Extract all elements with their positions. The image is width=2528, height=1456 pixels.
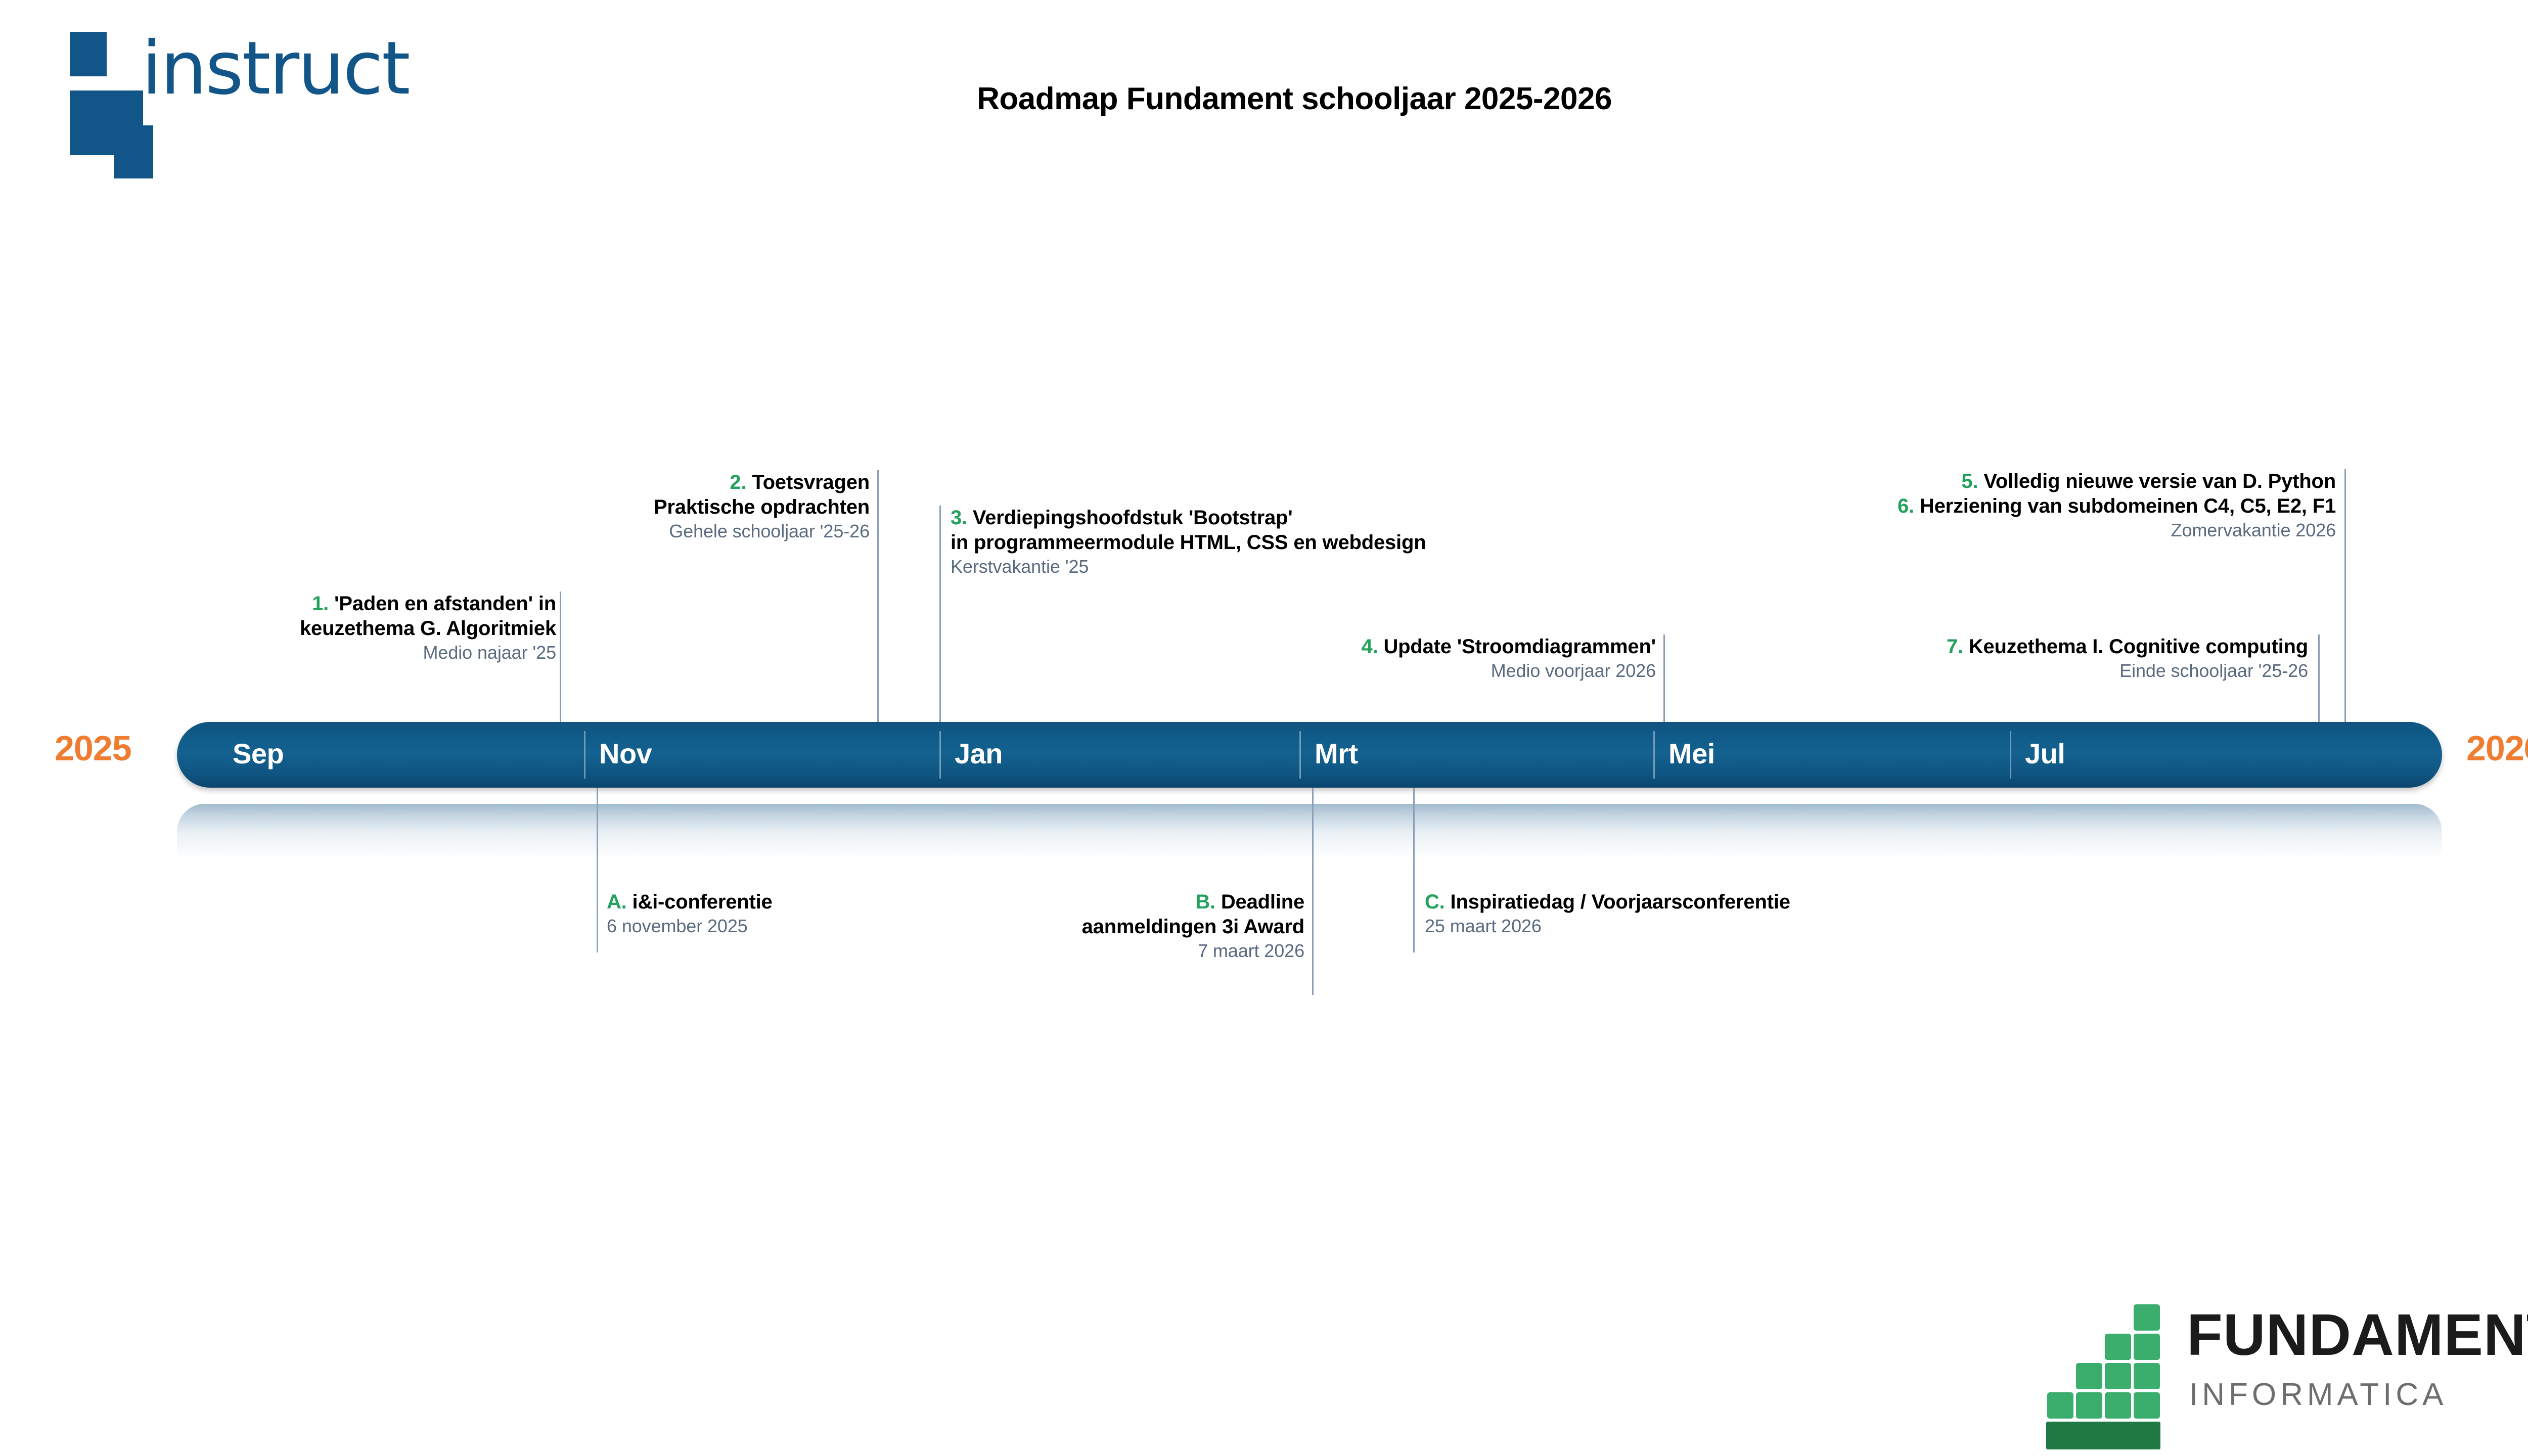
brick-r4-c0 — [2047, 1392, 2073, 1419]
brick-r2-c3 — [2134, 1334, 2160, 1360]
milestone-2-line-1: 2. Toetsvragen — [420, 470, 870, 495]
timeline-bar-wrapper: Sep Nov Jan Mrt Mei Jul — [0, 722, 2528, 788]
fundament-logo-bricks — [2063, 1304, 2174, 1433]
logo-square-bottom — [114, 125, 153, 178]
brick-r2-c2 — [2105, 1334, 2131, 1360]
connector-line-milestone-7 — [2318, 634, 2320, 722]
month-tick-nov — [584, 731, 585, 779]
milestone-1-date: Medio najaar '25 — [101, 641, 556, 665]
connector-line-milestone-2 — [877, 470, 879, 722]
timeline-bar[interactable]: Sep Nov Jan Mrt Mei Jul — [177, 722, 2442, 788]
month-tick-mrt — [1299, 731, 1301, 779]
connector-line-milestone-b — [1312, 788, 1314, 995]
fundament-wordmark: FUNDAMENT — [2187, 1305, 2528, 1364]
connector-line-milestone-1 — [560, 591, 561, 722]
month-tick-jul — [2010, 731, 2011, 779]
fundament-subtitle: INFORMATICA — [2189, 1379, 2448, 1410]
month-tick-jan — [939, 731, 941, 779]
connector-line-milestone-56 — [2344, 469, 2346, 722]
milestone-1-marker: 1. — [312, 593, 329, 615]
milestone-5-line: 5. Volledig nieuwe versie van D. Python — [1567, 469, 2336, 494]
milestone-7-line-1: 7. Keuzethema I. Cognitive computing — [1709, 634, 2308, 659]
connector-line-milestone-3 — [939, 506, 941, 722]
milestone-7: 7. Keuzethema I. Cognitive computing Ein… — [1709, 634, 2308, 683]
milestone-2-marker: 2. — [730, 471, 746, 493]
milestone-c: C. Inspiratiedag / Voorjaarsconferentie … — [1425, 890, 2032, 938]
milestone-c-line-1: C. Inspiratiedag / Voorjaarsconferentie — [1425, 890, 2032, 915]
milestone-5-marker: 5. — [1961, 470, 1978, 492]
milestone-7-date: Einde schooljaar '25-26 — [1709, 659, 2308, 683]
milestone-6-marker: 6. — [1898, 495, 1914, 517]
milestone-1: 1. 'Paden en afstanden' in keuzethema G.… — [101, 591, 556, 665]
milestone-c-date: 25 maart 2026 — [1425, 915, 2032, 938]
milestone-2: 2. Toetsvragen Praktische opdrachten Geh… — [420, 470, 870, 543]
connector-line-milestone-a — [597, 788, 598, 952]
milestone-2-line-2: Praktische opdrachten — [420, 495, 870, 520]
milestone-3-marker: 3. — [951, 507, 967, 529]
month-label-jan: Jan — [955, 737, 1003, 770]
month-tick-mei — [1653, 731, 1655, 779]
milestone-7-marker: 7. — [1947, 635, 1963, 658]
brick-r1-c3 — [2134, 1304, 2160, 1331]
milestone-4: 4. Update 'Stroomdiagrammen' Medio voorj… — [1087, 634, 1656, 683]
month-label-jul: Jul — [2025, 737, 2065, 770]
month-label-mrt: Mrt — [1315, 737, 1358, 770]
brick-base-row — [2046, 1422, 2160, 1449]
logo-square-top — [70, 32, 107, 76]
milestone-b-date: 7 maart 2026 — [860, 939, 1304, 963]
milestone-1-line-1: 1. 'Paden en afstanden' in — [101, 591, 556, 616]
milestone-b: B. Deadline aanmeldingen 3i Award 7 maar… — [860, 890, 1304, 963]
milestone-2-date: Gehele schooljaar '25-26 — [420, 520, 870, 543]
brick-r4-c3 — [2134, 1392, 2160, 1419]
milestone-b-marker: B. — [1195, 891, 1215, 913]
milestone-c-marker: C. — [1425, 891, 1445, 913]
milestone-5-6: 5. Volledig nieuwe versie van D. Python … — [1567, 469, 2336, 542]
month-label-nov: Nov — [599, 737, 652, 770]
brick-r3-c1 — [2076, 1363, 2102, 1389]
page-title: Roadmap Fundament schooljaar 2025-2026 — [0, 81, 2528, 117]
brick-r4-c2 — [2105, 1392, 2131, 1419]
connector-line-milestone-c — [1413, 788, 1415, 952]
connector-line-milestone-4 — [1663, 634, 1665, 722]
milestone-b-line-2: aanmeldingen 3i Award — [860, 915, 1304, 939]
milestone-1-line-2: keuzethema G. Algoritmiek — [101, 616, 556, 641]
milestone-4-line-1: 4. Update 'Stroomdiagrammen' — [1087, 634, 1656, 659]
timeline-bar-reflection — [177, 804, 2442, 859]
milestone-3-date: Kerstvakantie '25 — [951, 555, 1810, 579]
month-label-sep: Sep — [233, 737, 284, 770]
fundament-logo: FUNDAMENT INFORMATICA — [2063, 1304, 2528, 1441]
milestone-b-line-1: B. Deadline — [860, 890, 1304, 915]
milestone-5-6-date: Zomervakantie 2026 — [1567, 519, 2336, 542]
brick-r4-c1 — [2076, 1392, 2102, 1419]
milestone-4-date: Medio voorjaar 2026 — [1087, 659, 1656, 683]
brick-r3-c2 — [2105, 1363, 2131, 1389]
month-label-mei: Mei — [1668, 737, 1715, 770]
milestone-4-marker: 4. — [1362, 635, 1378, 658]
milestone-a-marker: A. — [607, 891, 627, 913]
milestone-6-line: 6. Herziening van subdomeinen C4, C5, E2… — [1567, 494, 2336, 519]
brick-r3-c3 — [2134, 1363, 2160, 1389]
